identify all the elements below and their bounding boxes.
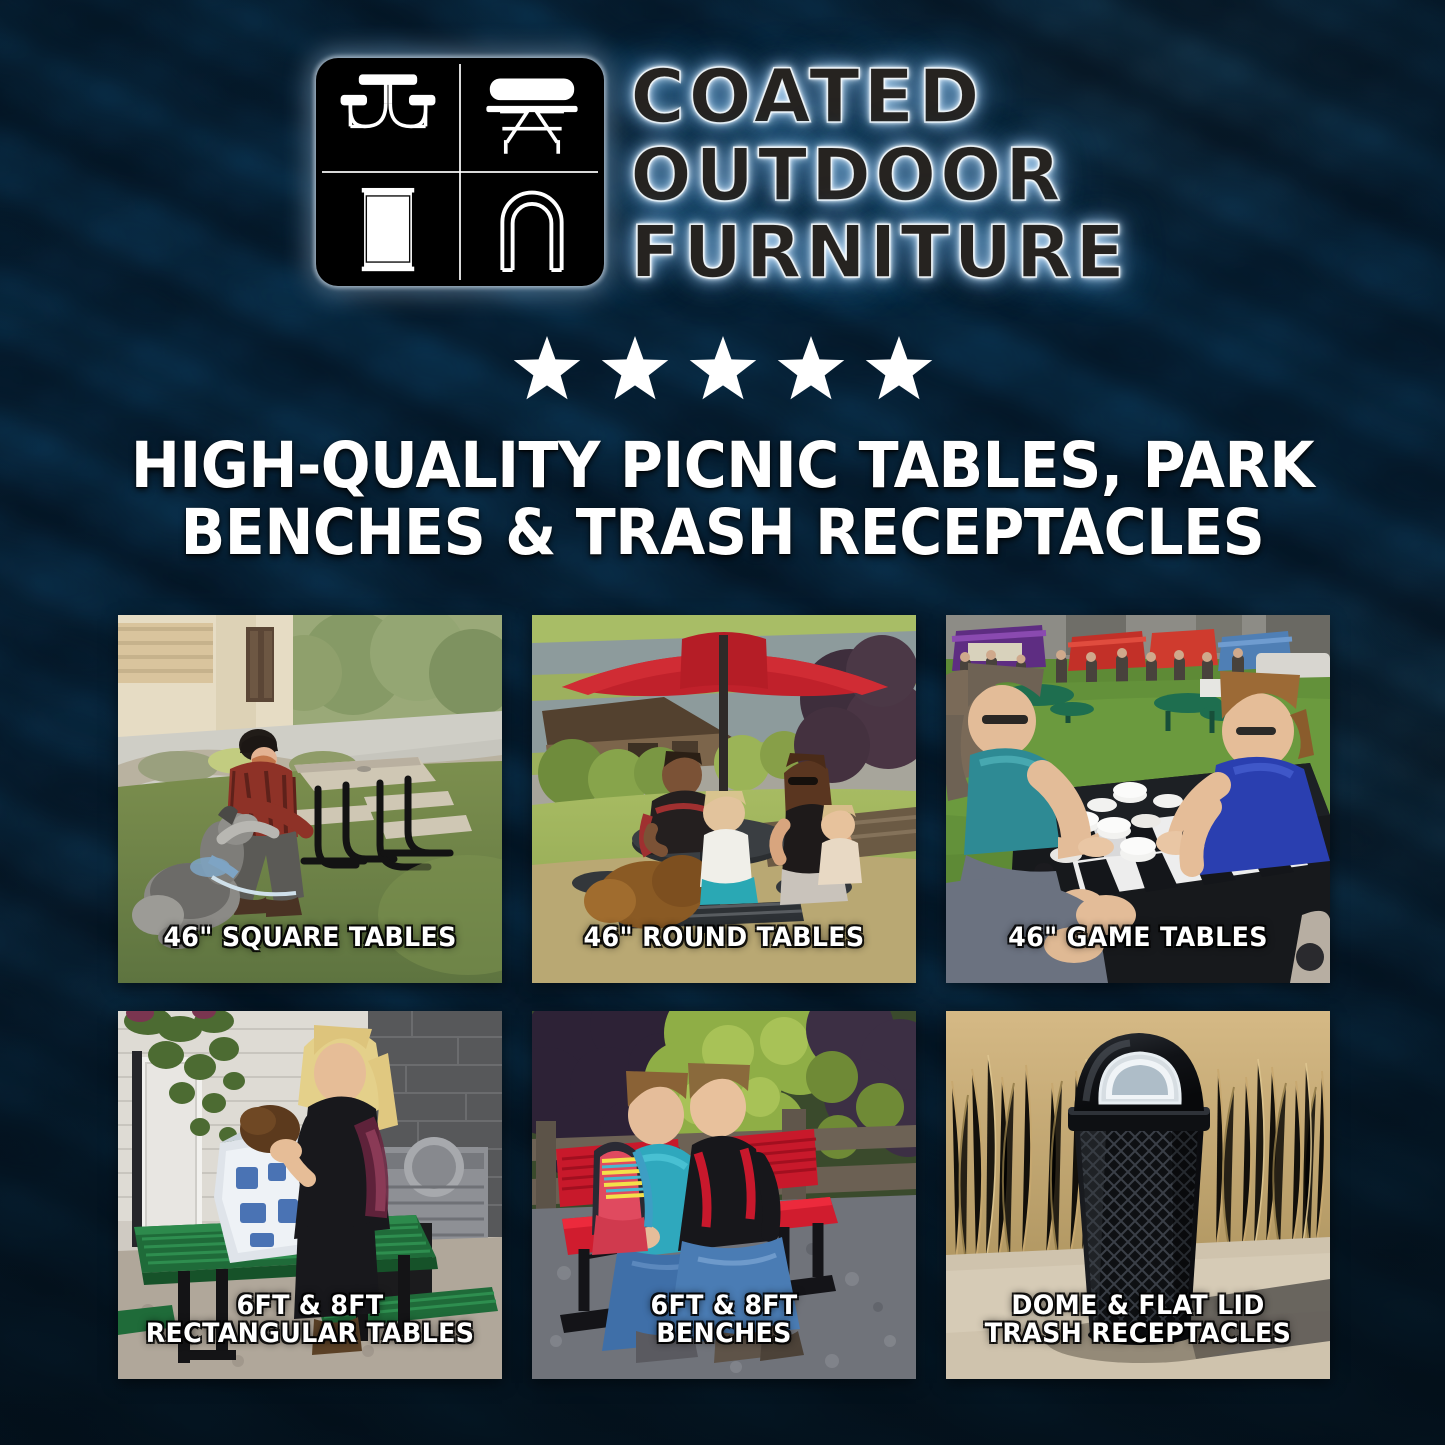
caption-line: DOME & FLAT LID — [965, 1292, 1311, 1321]
brand-wordmark: COATED OUTDOOR FURNITURE — [630, 58, 1128, 287]
poster-canvas: COATED OUTDOOR FURNITURE HIGH-QUALITY PI… — [0, 0, 1445, 1445]
caption-line: RECTANGULAR TABLES — [137, 1320, 483, 1349]
product-tile-rectangular-tables[interactable]: 6FT & 8FT RECTANGULAR TABLES — [118, 1011, 502, 1379]
product-caption: 6FT & 8FT RECTANGULAR TABLES — [130, 1292, 491, 1349]
product-tile-game-tables[interactable]: 46" GAME TABLES — [946, 615, 1330, 983]
headline-line-2: BENCHES & TRASH RECEPTACLES — [106, 499, 1338, 566]
star-icon — [775, 336, 847, 406]
star-icon — [687, 336, 759, 406]
caption-line: 46" SQUARE TABLES — [137, 924, 483, 953]
caption-line: 46" ROUND TABLES — [551, 924, 897, 953]
brand-line-3: FURNITURE — [630, 218, 1128, 287]
logo-divider-horizontal — [322, 171, 598, 173]
product-tile-square-tables[interactable]: 46" SQUARE TABLES — [118, 615, 502, 983]
brand-line-1: COATED — [630, 62, 983, 133]
product-tile-round-tables[interactable]: 46" ROUND TABLES — [532, 615, 916, 983]
star-icon — [599, 336, 671, 406]
product-caption: 46" GAME TABLES — [958, 924, 1319, 953]
trash-receptacle-icon — [316, 172, 460, 286]
product-caption: DOME & FLAT LID TRASH RECEPTACLES — [958, 1292, 1319, 1349]
brand-header: COATED OUTDOOR FURNITURE — [0, 58, 1445, 287]
picnic-table-icon — [316, 58, 460, 172]
bench-icon — [460, 58, 604, 172]
caption-line: 6FT & 8FT — [137, 1292, 483, 1321]
brand-line-2: OUTDOOR — [630, 141, 1064, 210]
product-caption: 46" SQUARE TABLES — [130, 924, 491, 953]
headline-line-1: HIGH-QUALITY PICNIC TABLES, PARK — [106, 432, 1338, 499]
caption-line: 6FT & 8FT — [551, 1292, 897, 1321]
product-grid: 46" SQUARE TABLES — [118, 615, 1330, 1379]
caption-line: BENCHES — [551, 1320, 897, 1349]
star-icon — [511, 336, 583, 406]
bike-rack-arch-icon — [460, 172, 604, 286]
product-tile-trash-receptacles[interactable]: DOME & FLAT LID TRASH RECEPTACLES — [946, 1011, 1330, 1379]
logo-mark — [316, 58, 604, 286]
product-caption: 6FT & 8FT BENCHES — [544, 1292, 905, 1349]
caption-line: TRASH RECEPTACLES — [965, 1320, 1311, 1349]
product-tile-benches[interactable]: 6FT & 8FT BENCHES — [532, 1011, 916, 1379]
star-rating — [0, 336, 1445, 406]
caption-line: 46" GAME TABLES — [965, 924, 1311, 953]
product-caption: 46" ROUND TABLES — [544, 924, 905, 953]
star-icon — [863, 336, 935, 406]
page-title: HIGH-QUALITY PICNIC TABLES, PARK BENCHES… — [51, 432, 1395, 567]
